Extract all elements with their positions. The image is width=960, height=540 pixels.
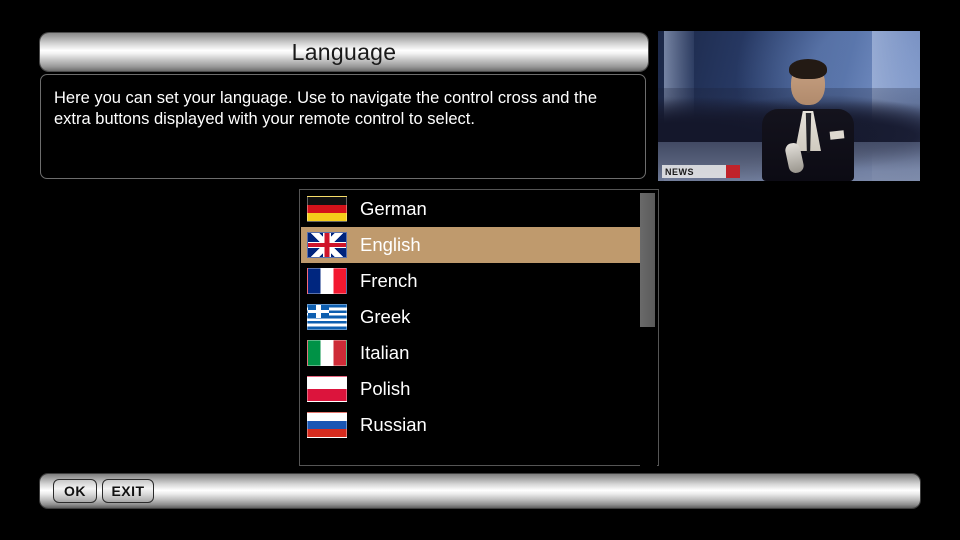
language-label: English bbox=[360, 234, 421, 256]
fr-flag-icon bbox=[307, 268, 347, 294]
list-item[interactable]: Russian bbox=[301, 407, 642, 443]
help-info-text: Here you can set your language. Use to n… bbox=[54, 88, 631, 130]
list-item[interactable]: English bbox=[301, 227, 642, 263]
page-title-bar: Language bbox=[40, 33, 648, 71]
language-label: Italian bbox=[360, 342, 409, 364]
channel-logo-text: NEWS bbox=[662, 167, 694, 177]
softkey-bar: OK EXIT bbox=[40, 474, 920, 508]
exit-button[interactable]: EXIT bbox=[102, 479, 154, 503]
channel-logo-bug: NEWS bbox=[662, 165, 740, 178]
it-flag-icon bbox=[307, 340, 347, 366]
gr-flag-icon bbox=[307, 304, 347, 330]
list-item[interactable]: Italian bbox=[301, 335, 642, 371]
scrollbar-track[interactable] bbox=[640, 191, 657, 466]
tv-settings-screen: Language Here you can set your language.… bbox=[0, 0, 960, 540]
list-item[interactable]: Polish bbox=[301, 371, 642, 407]
pl-flag-icon bbox=[307, 376, 347, 402]
language-label: Russian bbox=[360, 414, 427, 436]
video-preview[interactable]: NEWS bbox=[658, 31, 920, 181]
ru-flag-icon bbox=[307, 412, 347, 438]
gb-flag-icon bbox=[307, 232, 347, 258]
list-item[interactable]: Greek bbox=[301, 299, 642, 335]
ok-button[interactable]: OK bbox=[53, 479, 97, 503]
language-label: French bbox=[360, 270, 418, 292]
language-label: German bbox=[360, 198, 427, 220]
language-list-panel[interactable]: German English French Greek Italian Poli bbox=[299, 189, 659, 466]
list-item[interactable]: German bbox=[301, 191, 642, 227]
scrollbar-thumb[interactable] bbox=[640, 193, 655, 327]
reporter-pocket-square bbox=[830, 130, 845, 139]
list-item[interactable]: French bbox=[301, 263, 642, 299]
page-title: Language bbox=[292, 39, 397, 66]
language-list: German English French Greek Italian Poli bbox=[301, 191, 642, 443]
language-label: Greek bbox=[360, 306, 410, 328]
help-info-box: Here you can set your language. Use to n… bbox=[40, 74, 646, 179]
channel-logo-accent bbox=[726, 165, 740, 178]
reporter-hair bbox=[789, 59, 827, 79]
language-label: Polish bbox=[360, 378, 410, 400]
de-flag-icon bbox=[307, 196, 347, 222]
